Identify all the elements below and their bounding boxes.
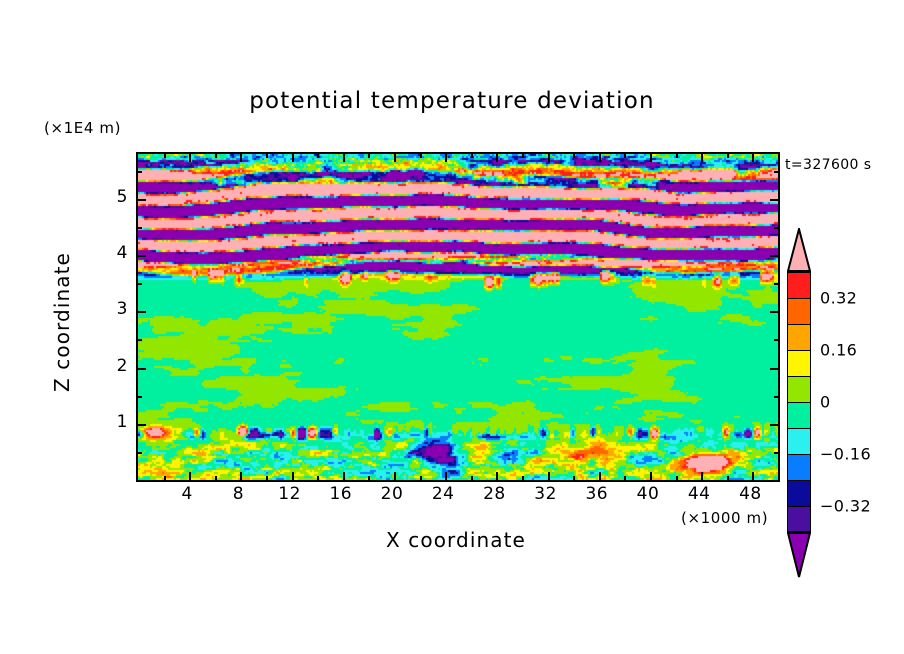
x-axis-tick [368,476,370,481]
colorbar-band [787,402,811,428]
colorbar-band [787,480,811,506]
x-axis-tick [164,153,166,158]
x-axis-tick-label: 44 [688,484,711,504]
x-axis-tick [701,472,703,481]
x-axis-tick [343,153,345,162]
x-axis-tick [599,153,601,162]
x-axis-tick [215,476,217,481]
y-axis-tick [137,339,142,341]
y-axis-tick [137,199,146,201]
x-axis-tick [676,476,678,481]
y-axis-tick [774,452,779,454]
colorbar-top-arrow [787,228,811,272]
x-axis-tick [752,472,754,481]
x-axis-tick [164,476,166,481]
y-axis-tick [770,424,779,426]
x-axis-tick [189,472,191,481]
x-axis-tick [292,153,294,162]
x-axis-tick [266,476,268,481]
y-axis-tick [770,368,779,370]
x-axis-tick [599,472,601,481]
x-axis-tick-label: 20 [381,484,404,504]
y-axis-tick [137,283,142,285]
y-axis-tick-label: 2 [110,356,128,376]
y-axis-tick [770,255,779,257]
y-axis-tick [774,396,779,398]
x-axis-tick-label: 12 [278,484,301,504]
x-axis-tick-label: 8 [233,484,244,504]
colorbar-band [787,506,811,532]
y-axis-tick [137,171,142,173]
y-axis-tick [774,283,779,285]
x-axis-tick-label: 16 [329,484,352,504]
contour-field [138,154,778,480]
x-axis-tick [394,153,396,162]
colorbar-band [787,350,811,376]
x-axis-tick [650,153,652,162]
y-axis-tick-label: 4 [110,243,128,263]
x-axis-tick [676,153,678,158]
x-axis-tick [317,153,319,158]
x-axis-tick-label: 24 [432,484,455,504]
x-axis-tick [420,153,422,158]
colorbar-tick-label: 0.16 [820,341,857,360]
y-axis-tick [137,452,142,454]
x-axis-tick [548,472,550,481]
x-axis-tick [701,153,703,162]
y-axis-tick [137,227,142,229]
x-axis-tick [624,476,626,481]
x-axis-tick [496,153,498,162]
x-axis-tick-label: 48 [739,484,762,504]
page-title: potential temperature deviation [0,88,904,114]
x-axis-tick [752,153,754,162]
x-axis-tick-label: 28 [483,484,506,504]
x-axis-tick [368,153,370,158]
x-axis-tick [573,153,575,158]
y-axis-tick [137,255,146,257]
x-axis-tick [727,476,729,481]
y-axis-tick [774,227,779,229]
colorbar-band [787,428,811,454]
y-axis-tick [774,339,779,341]
colorbar-tick-label: −0.32 [820,497,871,516]
colorbar-tick-label: 0.32 [820,289,857,308]
x-axis-tick [215,153,217,158]
x-axis-tick [266,153,268,158]
x-axis-unit-label: (×1000 m) [681,509,768,527]
y-axis-tick [137,311,146,313]
x-axis-tick [522,153,524,158]
x-axis-tick [522,476,524,481]
x-axis-tick [445,472,447,481]
x-axis-tick-label: 36 [585,484,608,504]
y-axis-tick [137,396,142,398]
y-axis-tick-label: 1 [110,412,128,432]
y-axis-tick [774,171,779,173]
x-axis-tick-label: 40 [637,484,660,504]
x-axis-tick [727,153,729,158]
x-axis-tick [573,476,575,481]
x-axis-tick [650,472,652,481]
colorbar-band [787,454,811,480]
x-axis-tick [317,476,319,481]
y-axis-tick-label: 5 [110,187,128,207]
y-axis-tick [770,199,779,201]
colorbar-tick-label: −0.16 [820,445,871,464]
colorbar-band [787,376,811,402]
y-axis-tick [137,368,146,370]
x-axis-tick [471,476,473,481]
x-axis-tick [624,153,626,158]
y-axis-unit-label: (×1E4 m) [44,119,121,137]
colorbar [787,228,811,578]
x-axis-tick [394,472,396,481]
x-axis-tick [548,153,550,162]
time-annotation: t=327600 s [785,157,871,173]
colorbar-band [787,324,811,350]
x-axis-tick [420,476,422,481]
x-axis-tick-label: 4 [182,484,193,504]
x-axis-tick-label: 32 [534,484,557,504]
x-axis-tick [445,153,447,162]
x-axis-tick [343,472,345,481]
y-axis-title: Z coordinate [50,202,74,442]
x-axis-tick [496,472,498,481]
contour-plot-panel [136,152,780,482]
y-axis-tick [770,311,779,313]
x-axis-tick [471,153,473,158]
x-axis-tick [292,472,294,481]
y-axis-tick [137,424,146,426]
colorbar-band [787,298,811,324]
x-axis-title: X coordinate [136,528,776,552]
colorbar-band [787,272,811,298]
colorbar-bottom-arrow [787,532,811,578]
x-axis-tick [240,153,242,162]
x-axis-tick [240,472,242,481]
colorbar-tick-label: 0 [820,393,831,412]
x-axis-tick [189,153,191,162]
y-axis-tick-label: 3 [110,299,128,319]
